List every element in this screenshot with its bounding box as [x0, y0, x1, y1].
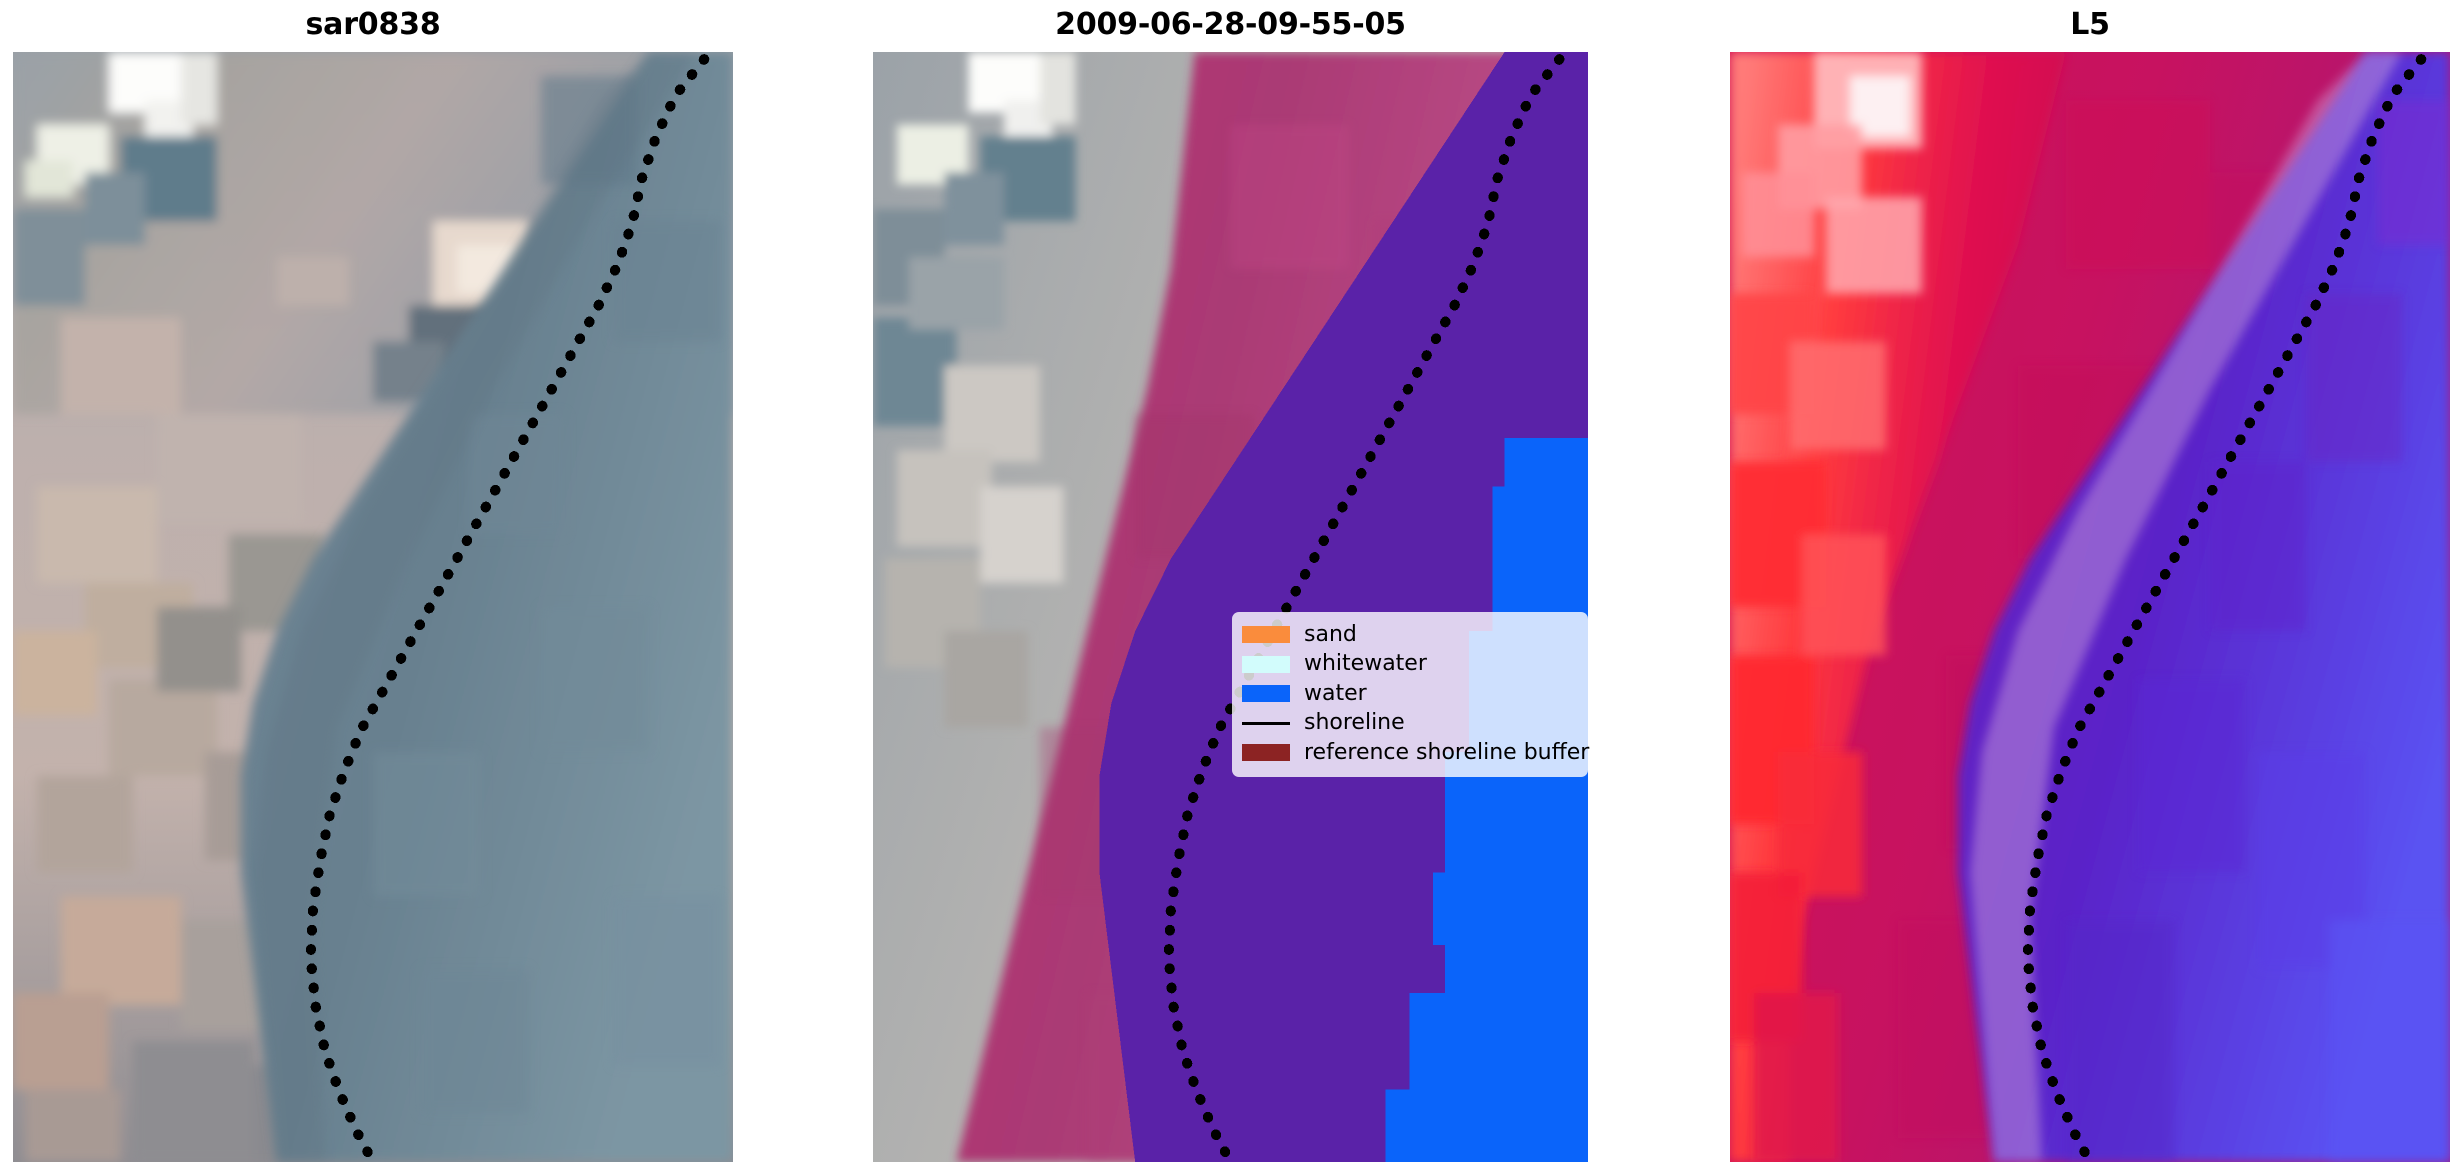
legend-item-whitewater: whitewater	[1242, 650, 1588, 680]
legend-label-shoreline: shoreline	[1304, 712, 1405, 734]
panel-title-classified: 2009-06-28-09-55-05	[873, 6, 1588, 44]
panel-title-index: L5	[1730, 6, 2450, 44]
legend-swatch-shoreline	[1242, 722, 1290, 725]
legend-swatch-sand	[1242, 626, 1290, 643]
rgb-raster	[13, 52, 733, 1162]
legend-item-shoreline: shoreline	[1242, 709, 1588, 739]
legend-swatch-water	[1242, 685, 1290, 702]
panel-classified	[873, 52, 1588, 1162]
legend-item-water: water	[1242, 679, 1588, 709]
panel-rgb	[13, 52, 733, 1162]
figure-canvas: sar0838 2009-06-28-09-55-05 L5	[0, 0, 2460, 1173]
panel-index	[1730, 52, 2450, 1162]
panel-title-rgb: sar0838	[13, 6, 733, 44]
legend-label-whitewater: whitewater	[1304, 653, 1427, 675]
legend: sand whitewater water shoreline referenc…	[1232, 612, 1588, 777]
legend-swatch-whitewater	[1242, 656, 1290, 673]
classified-raster	[873, 52, 1588, 1162]
index-raster	[1730, 52, 2450, 1162]
legend-item-sand: sand	[1242, 620, 1588, 650]
legend-label-reference-buffer: reference shoreline buffer	[1304, 742, 1589, 764]
legend-label-sand: sand	[1304, 624, 1357, 646]
legend-label-water: water	[1304, 683, 1367, 705]
legend-swatch-reference-buffer	[1242, 744, 1290, 761]
legend-item-reference-buffer: reference shoreline buffer	[1242, 738, 1588, 768]
